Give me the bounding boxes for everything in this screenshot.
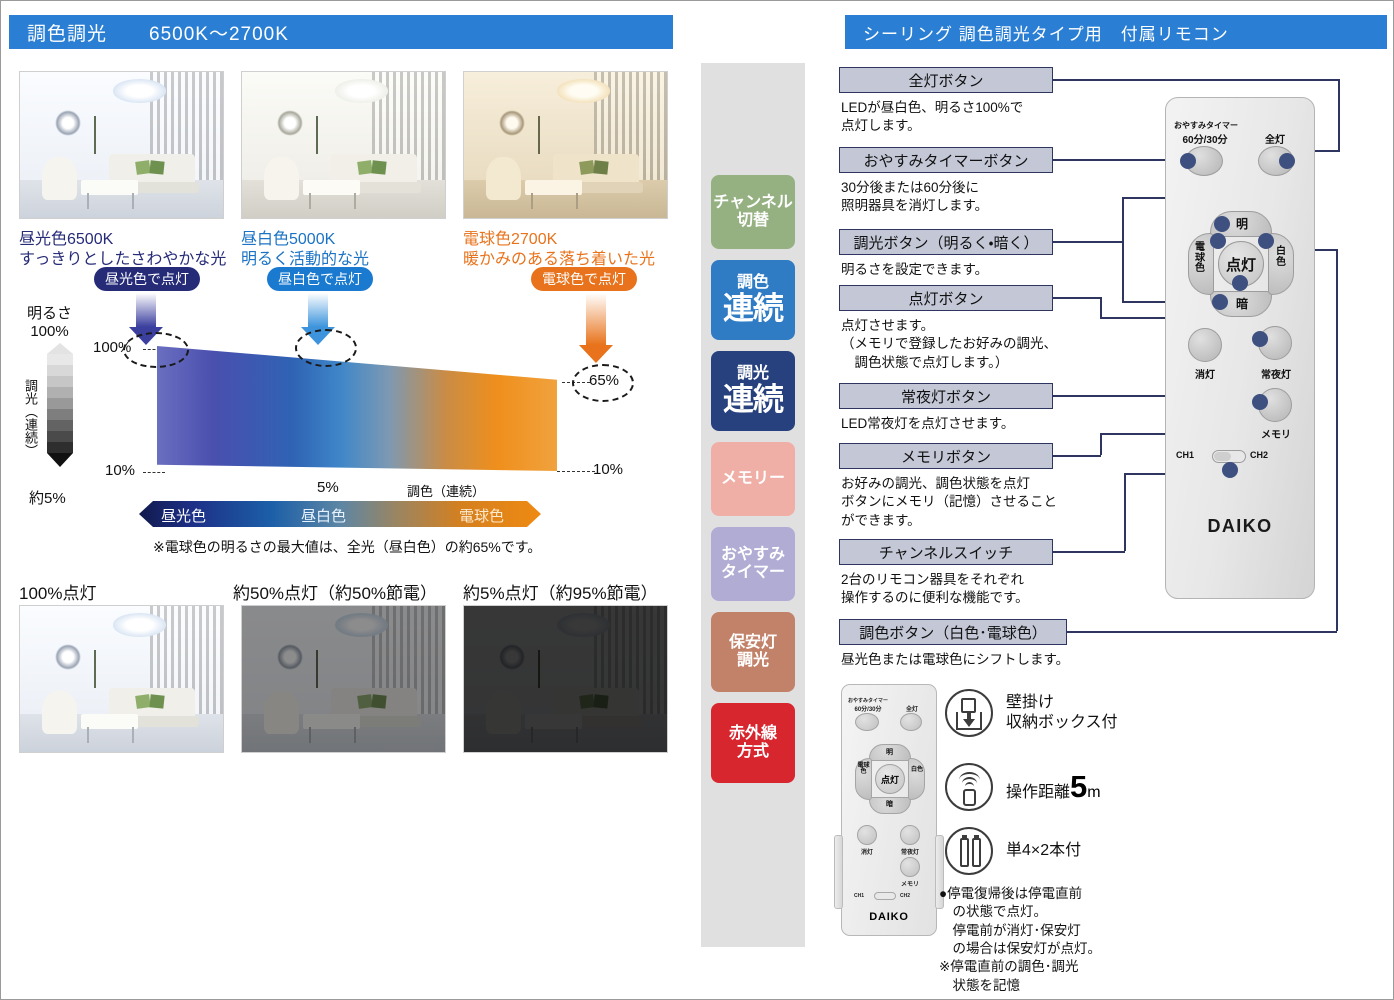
leader-ch-v	[1124, 473, 1126, 551]
callout-dimming-desc: 明るさを設定できます。	[841, 261, 988, 279]
leader-memory-h	[1053, 455, 1101, 457]
badge-tone-label: 調色	[737, 274, 769, 292]
chart-marker-neutral	[295, 329, 357, 367]
badge-security-line1: 保安灯	[729, 634, 777, 652]
mini-memory-button	[900, 857, 920, 877]
dot-bright	[1214, 216, 1230, 232]
callout-power-label: 点灯ボタン	[839, 285, 1053, 311]
room-photo-neutral	[241, 71, 446, 219]
callout-channel-label: チャンネルスイッチ	[839, 539, 1053, 565]
leader-ch-h	[1053, 551, 1125, 553]
mini-dark-label: 暗	[886, 799, 893, 809]
remote-power-label: 点灯	[1226, 254, 1256, 275]
accessory-range-text: 操作距離	[1006, 783, 1070, 803]
chart-brightness-bottom-label: 約5%	[29, 487, 66, 508]
mini-power-label: 点灯	[881, 773, 899, 786]
badge-infrared-line1: 赤外線	[729, 725, 777, 743]
leader-all-on-v	[1338, 79, 1340, 151]
badge-tone: 調色 連続	[711, 260, 795, 340]
mini-bright-label: 明	[886, 747, 893, 757]
dot-sleep-timer	[1180, 153, 1196, 169]
badge-sleep-timer: おやすみ タイマー	[711, 527, 795, 601]
mini-remote-illustration: おやすみタイマー 60分/30分 全灯 明 暗 電球色 白色 点灯 消灯 常夜灯…	[841, 684, 937, 936]
mini-nightlight-button	[900, 825, 920, 845]
pill-daylight: 昼光色で点灯	[94, 267, 200, 291]
accessory-battery: 単4×2本付	[945, 827, 1081, 875]
remote-timer-label-1: おやすみタイマー	[1174, 120, 1236, 131]
badge-infrared-line2: 方式	[737, 743, 769, 761]
mini-all-on-button	[900, 713, 922, 731]
dot-power	[1232, 275, 1248, 291]
callout-power-desc: 点灯させます。 （メモリで登録したお好みの調光、 調色状態で点灯します。）	[841, 317, 1057, 372]
accessory-wall-mount: 壁掛け 収納ボックス付	[945, 689, 1118, 737]
accessory-battery-text: 単4×2本付	[1006, 841, 1081, 861]
mini-white-color-label: 白色	[911, 767, 923, 773]
badge-tone-value: 連続	[723, 292, 783, 327]
dot-memory	[1252, 394, 1268, 410]
dimming-photo-100	[19, 605, 224, 753]
right-panel-footnote: ●停電復帰後は停電直前 の状態で点灯。 停電前が消灯･保安灯 の場合は保安灯が点…	[939, 885, 1101, 995]
remote-memory-label: メモリ	[1254, 426, 1298, 441]
leader-all-on-h	[1053, 79, 1339, 81]
left-panel-header: 調色調光 6500K～2700K	[9, 15, 673, 49]
left-header-label: 調色調光	[27, 19, 107, 46]
badge-channel-line2: 切替	[737, 212, 769, 230]
chart-footnote: ※電球色の明るさの最大値は、全光（昼白色）の約65%です。	[153, 537, 541, 557]
remote-control-body: おやすみタイマー 60分/30分 全灯 明 暗 電球色 白色 点灯	[1165, 97, 1315, 599]
signal-icon	[945, 763, 993, 811]
chart-dimming-axis-label: 調光（連続）	[21, 379, 40, 457]
mini-brand-logo: DAIKO	[842, 911, 936, 923]
accessory-range-value: 5	[1070, 769, 1087, 805]
callout-sleep-timer-desc: 30分後または60分後に 照明器具を消灯します。	[841, 179, 988, 216]
remote-all-on-label: 全灯	[1252, 131, 1298, 146]
callout-tone-desc: 昼光色または電球色にシフトします。	[841, 651, 1069, 669]
mini-bulb-color-label: 電球色	[857, 763, 870, 775]
remote-bulb-color-label: 電球色	[1191, 243, 1209, 275]
badge-dimming-label: 調光	[737, 365, 769, 383]
leader-dim-h	[1053, 241, 1123, 243]
badge-dimming: 調光 連続	[711, 351, 795, 431]
chart-tick-10-left: 10%	[105, 462, 135, 479]
accessory-wall-mount-text: 壁掛け 収納ボックス付	[1006, 693, 1118, 734]
dimming-photo-5	[463, 605, 668, 753]
color-mode-sub-2: 暖かみのある落ち着いた光	[463, 245, 655, 269]
mini-channel-switch	[874, 892, 896, 900]
dimming-title-0: 100%点灯	[19, 579, 96, 604]
callout-all-on-label: 全灯ボタン	[839, 67, 1053, 93]
leader-power-v	[1100, 297, 1102, 317]
spec-sheet-page: 調色調光 6500K～2700K	[0, 0, 1394, 1000]
badge-security-line2: 調光	[737, 652, 769, 670]
chart-gradient-band	[157, 346, 557, 471]
pill-neutral: 昼白色で点灯	[267, 267, 373, 291]
chart-marker-daylight	[123, 332, 189, 368]
mini-all-on-label: 全灯	[898, 704, 926, 713]
remote-off-label: 消灯	[1188, 366, 1222, 381]
remote-off-button[interactable]	[1188, 328, 1222, 362]
right-panel-header: シーリング 調色調光タイプ用 付属リモコン	[845, 15, 1387, 49]
mini-dpad: 明 暗 電球色 白色 点灯	[858, 747, 922, 811]
wall-mount-icon	[945, 689, 993, 737]
mini-power-button: 点灯	[875, 764, 905, 794]
badge-memory-label: メモリー	[721, 470, 785, 488]
color-mode-sub-0: すっきりとしたさわやかな光	[19, 245, 226, 269]
chart-tick-10-right: 10%	[593, 461, 623, 478]
callout-tone-label: 調色ボタン（白色･電球色）	[839, 619, 1067, 645]
mini-ch2-label: CH2	[900, 893, 910, 899]
color-mode-sub-1: 明るく活動的な光	[241, 245, 369, 269]
badge-sleep-line1: おやすみ	[721, 546, 785, 564]
callout-sleep-timer-label: おやすみタイマーボタン	[839, 147, 1053, 173]
dot-white-color	[1258, 233, 1274, 249]
callout-dimming-label: 調光ボタン（明るく・暗く）	[839, 229, 1053, 255]
temp-bar-label-left: 昼光色	[161, 505, 206, 526]
color-temperature-bar: 昼光色 昼白色 電球色	[139, 501, 541, 527]
dimming-title-1: 約50%点灯（約50%節電）	[233, 579, 437, 604]
mini-off-button	[857, 825, 877, 845]
mini-timer-label-2: 60分/30分	[848, 704, 888, 713]
callout-memory-label: メモリボタン	[839, 443, 1053, 469]
badge-infrared: 赤外線 方式	[711, 703, 795, 783]
room-photo-warm	[463, 71, 668, 219]
remote-ch2-label: CH2	[1250, 450, 1268, 460]
mini-timer-label-1: おやすみタイマー	[848, 697, 888, 704]
battery-icon	[945, 827, 993, 875]
dot-all-on	[1279, 153, 1295, 169]
badge-security-light: 保安灯 調光	[711, 612, 795, 692]
dimming-title-2: 約5%点灯（約95%節電）	[463, 579, 658, 604]
mini-off-label: 消灯	[857, 847, 877, 856]
dot-dark	[1212, 294, 1228, 310]
remote-brand-logo: DAIKO	[1166, 516, 1314, 537]
feature-badge-column: チャンネル 切替 調色 連続 調光 連続 メモリー おやすみ タイマー 保安灯 …	[701, 63, 805, 947]
remote-dpad: 明 暗 電球色 白色 点灯	[1192, 215, 1290, 313]
chart-brightness-top-label: 明るさ 100%	[27, 305, 72, 341]
leader-dim-v	[1122, 197, 1124, 303]
accessory-range-unit: m	[1087, 784, 1100, 802]
mini-sleep-timer-button	[855, 713, 879, 731]
callout-nightlight-label: 常夜灯ボタン	[839, 383, 1053, 409]
leader-memory-v	[1100, 433, 1102, 455]
chart-tone-axis-label: 調色（連続）	[407, 481, 485, 500]
badge-dimming-value: 連続	[723, 383, 783, 418]
remote-timer-label-2: 60分/30分	[1174, 131, 1236, 146]
temp-bar-label-middle: 昼白色	[301, 505, 346, 526]
callout-channel-desc: 2台のリモコン器具をそれぞれ 操作するのに便利な機能です。	[841, 571, 1029, 608]
mini-nightlight-label: 常夜灯	[896, 847, 924, 856]
remote-white-color-label: 白色	[1273, 247, 1289, 268]
leader-power-h	[1053, 297, 1101, 299]
badge-channel-line1: チャンネル	[713, 194, 793, 212]
temp-bar-label-right: 電球色	[459, 505, 504, 526]
brightness-ladder	[47, 343, 73, 467]
callout-all-on-desc: LEDが昼白色、明るさ100%で 点灯します。	[841, 99, 1023, 136]
badge-sleep-line2: タイマー	[721, 564, 785, 582]
left-header-range: 6500K～2700K	[149, 19, 289, 46]
remote-dark-label: 暗	[1236, 295, 1248, 312]
leader-tone-h	[1067, 631, 1337, 633]
dot-channel	[1222, 462, 1238, 478]
dimming-photo-50	[241, 605, 446, 753]
dot-bulb-color	[1210, 233, 1226, 249]
remote-ch1-label: CH1	[1176, 450, 1194, 460]
mini-ch1-label: CH1	[854, 893, 864, 899]
callout-memory-desc: お好みの調光、調色状態を点灯 ボタンにメモリ（記憶）させること ができます。	[841, 475, 1057, 530]
wall-bracket-left	[834, 835, 843, 909]
badge-channel: チャンネル 切替	[711, 175, 795, 249]
pill-warm: 電球色で点灯	[531, 267, 637, 291]
badge-memory: メモリー	[711, 442, 795, 516]
remote-nightlight-label: 常夜灯	[1254, 366, 1298, 381]
remote-bright-label: 明	[1236, 215, 1248, 232]
dot-nightlight	[1252, 331, 1268, 347]
mini-memory-label: メモリ	[896, 879, 924, 888]
room-photo-daylight	[19, 71, 224, 219]
callout-nightlight-desc: LED常夜灯を点灯させます。	[841, 415, 1014, 433]
chart-tick-5: 5%	[317, 479, 339, 496]
accessory-range: 操作距離 5 m	[945, 763, 1101, 811]
leader-tone-v	[1336, 249, 1338, 631]
chart-marker-warm	[572, 364, 634, 402]
